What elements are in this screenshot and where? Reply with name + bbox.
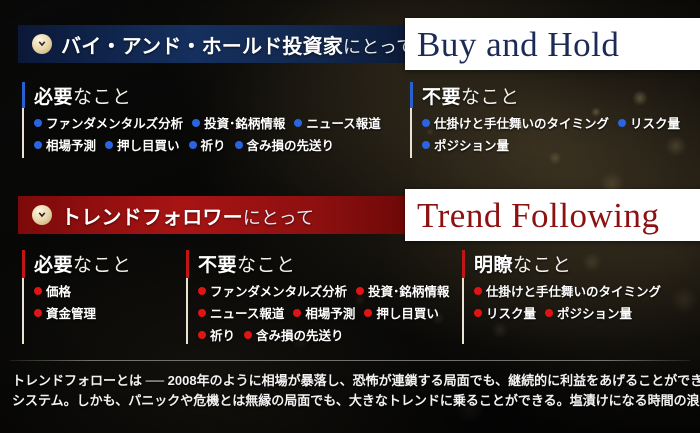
list-item: リスク量 [618,113,680,132]
list-item-label: 含み損の先送り [256,325,344,344]
footer-line-1: トレンドフォローとは ── 2008年のように相場が暴落し、恐怖が連鎖する局面で… [12,371,690,391]
list-item-label: 祈り [210,325,235,344]
list-item-label: リスク量 [486,303,536,322]
bullet-dot-icon [34,287,42,295]
block-buy-hold-necessary: 必要なこと ファンダメンタルズ分析 投資･銘柄情報 ニュース報道 相場予測 押し… [22,82,402,160]
list-item: 資金管理 [34,303,96,322]
plate-buy-and-hold: Buy and Hold [405,18,700,70]
bullet-dot-icon [618,119,626,127]
block-heading-tail: なこと [73,87,132,108]
footer-divider [10,360,690,361]
bullet-dot-icon [474,309,482,317]
item-list: ファンダメンタルズ分析 投資･銘柄情報 ニュース報道 相場予測 押し目買い 祈り… [34,113,402,154]
block-heading-strong: 必要 [34,87,73,108]
accent-rule-bottom [410,108,412,158]
bullet-dot-icon [293,309,301,317]
list-item: ファンダメンタルズ分析 [198,281,347,300]
bullet-dot-icon [235,141,243,149]
list-item-label: ファンダメンタルズ分析 [46,113,183,132]
list-item-label: 投資･銘柄情報 [204,113,285,132]
list-item-label: ニュース報道 [306,113,380,132]
list-item: 投資･銘柄情報 [192,113,285,132]
bullet-dot-icon [34,119,42,127]
list-item: ファンダメンタルズ分析 [34,113,183,132]
accent-rule-top [410,82,413,108]
block-heading-strong: 必要 [34,255,73,276]
block-heading-strong: 不要 [198,255,237,276]
bullet-dot-icon [364,309,372,317]
item-list: ファンダメンタルズ分析 投資･銘柄情報 ニュース報道 相場予測 押し目買い 祈り… [198,281,456,344]
list-item-label: ファンダメンタルズ分析 [210,281,347,300]
block-heading-tail: なこと [73,255,132,276]
list-item: ニュース報道 [198,303,284,322]
list-item: 仕掛けと手仕舞いのタイミング [422,113,609,132]
item-row: リスク量 ポジション量 [474,303,696,322]
banner-title-trend-following: トレンドフォロワーにとって [61,201,314,230]
item-row: 相場予測 押し目買い 祈り 含み損の先送り [34,135,402,154]
banner-trend-following: トレンドフォロワーにとって [18,196,408,234]
bullet-dot-icon [192,119,200,127]
banner-title-buy-and-hold: バイ・アンド・ホールド投資家にとって [61,30,414,59]
item-row: 資金管理 [34,303,172,322]
chevron-down-badge-icon [32,205,52,225]
block-heading: 不要なこと [198,250,456,277]
block-heading-tail: なこと [513,255,572,276]
plate-trend-following: Trend Following [405,189,700,241]
accent-rule-bottom [186,278,188,344]
chevron-down-badge-icon [32,34,52,54]
item-list: 仕掛けと手仕舞いのタイミング リスク量 ポジション量 [474,281,696,322]
accent-rule [462,250,465,344]
list-item-label: リスク量 [630,113,680,132]
list-item: 祈り [189,135,226,154]
accent-rule-bottom [462,278,464,344]
list-item: ポジション量 [422,135,509,154]
block-heading-strong: 不要 [422,87,461,108]
accent-rule-bottom [22,108,24,158]
block-trend-unnecessary: 不要なこと ファンダメンタルズ分析 投資･銘柄情報 ニュース報道 相場予測 押し… [186,250,456,346]
bullet-dot-icon [474,287,482,295]
block-heading: 不要なこと [422,82,696,109]
block-heading: 必要なこと [34,250,172,277]
banner-title-strong: トレンドフォロワー [61,207,243,229]
bullet-dot-icon [189,141,197,149]
list-item: ポジション量 [545,303,632,322]
plate-text-trend-following: Trend Following [405,198,660,233]
list-item-label: ポジション量 [557,303,632,322]
item-row: ファンダメンタルズ分析 投資･銘柄情報 ニュース報道 [34,113,402,132]
list-item-label: 資金管理 [46,303,96,322]
list-item: 押し目買い [364,303,439,322]
block-heading: 必要なこと [34,82,402,109]
list-item-label: ポジション量 [434,135,509,154]
item-list: 仕掛けと手仕舞いのタイミング リスク量 ポジション量 [422,113,696,154]
banner-title-tail: にとって [243,208,314,228]
accent-rule-top [186,250,189,278]
bullet-dot-icon [422,119,430,127]
block-heading-tail: なこと [461,87,520,108]
accent-rule [22,250,25,344]
accent-rule-top [22,82,25,108]
list-item-label: 仕掛けと手仕舞いのタイミング [486,281,661,300]
list-item-label: 押し目買い [376,303,439,322]
list-item: 価格 [34,281,71,300]
bullet-dot-icon [34,309,42,317]
block-heading: 明瞭なこと [474,250,696,277]
list-item: 押し目買い [105,135,180,154]
list-item: 含み損の先送り [244,325,344,344]
accent-rule [186,250,189,344]
item-row: 仕掛けと手仕舞いのタイミング リスク量 [422,113,696,132]
bullet-dot-icon [198,287,206,295]
plate-text-buy-and-hold: Buy and Hold [405,27,619,62]
list-item-label: 押し目買い [117,135,180,154]
banner-title-strong: バイ・アンド・ホールド投資家 [61,36,343,58]
footer-line-2: システム。しかも、パニックや危機とは無縁の局面でも、大きなトレンドに乗ることがで… [12,391,690,411]
item-row: ポジション量 [422,135,696,154]
item-row: 仕掛けと手仕舞いのタイミング [474,281,696,300]
banner-title-tail: にとって [343,37,414,57]
item-row: ニュース報道 相場予測 押し目買い [198,303,456,322]
block-heading-tail: なこと [237,255,296,276]
block-heading-strong: 明瞭 [474,255,513,276]
accent-rule-top [462,250,465,278]
item-list: 価格 資金管理 [34,281,172,322]
bullet-dot-icon [356,287,364,295]
list-item-label: 価格 [46,281,71,300]
accent-rule-top [22,250,25,278]
list-item-label: 祈り [201,135,226,154]
bullet-dot-icon [244,331,252,339]
footer-caption: トレンドフォローとは ── 2008年のように相場が暴落し、恐怖が連鎖する局面で… [12,371,690,411]
block-buy-hold-unnecessary: 不要なこと 仕掛けと手仕舞いのタイミング リスク量 ポジション量 [410,82,696,160]
list-item: 含み損の先送り [235,135,335,154]
accent-rule-bottom [22,278,24,344]
list-item-label: 含み損の先送り [247,135,335,154]
list-item-label: 投資･銘柄情報 [368,281,449,300]
block-trend-clear: 明瞭なこと 仕掛けと手仕舞いのタイミング リスク量 ポジション量 [462,250,696,346]
list-item: 相場予測 [34,135,96,154]
list-item: リスク量 [474,303,536,322]
bullet-dot-icon [198,309,206,317]
block-trend-necessary: 必要なこと 価格 資金管理 [22,250,172,346]
list-item: 祈り [198,325,235,344]
bullet-dot-icon [198,331,206,339]
bullet-dot-icon [545,309,553,317]
item-row: 祈り 含み損の先送り [198,325,456,344]
bullet-dot-icon [105,141,113,149]
accent-rule [410,82,413,158]
item-row: 価格 [34,281,172,300]
list-item-label: 仕掛けと手仕舞いのタイミング [434,113,609,132]
banner-buy-and-hold: バイ・アンド・ホールド投資家にとって [18,25,408,63]
list-item: 投資･銘柄情報 [356,281,449,300]
list-item-label: 相場予測 [305,303,355,322]
item-row: ファンダメンタルズ分析 投資･銘柄情報 [198,281,456,300]
bullet-dot-icon [294,119,302,127]
bullet-dot-icon [422,141,430,149]
list-item-label: ニュース報道 [210,303,284,322]
accent-rule [22,82,25,158]
slide-canvas: バイ・アンド・ホールド投資家にとって Buy and Hold 必要なこと ファ… [0,0,700,433]
bullet-dot-icon [34,141,42,149]
list-item: 相場予測 [293,303,355,322]
list-item-label: 相場予測 [46,135,96,154]
list-item: 仕掛けと手仕舞いのタイミング [474,281,661,300]
list-item: ニュース報道 [294,113,380,132]
